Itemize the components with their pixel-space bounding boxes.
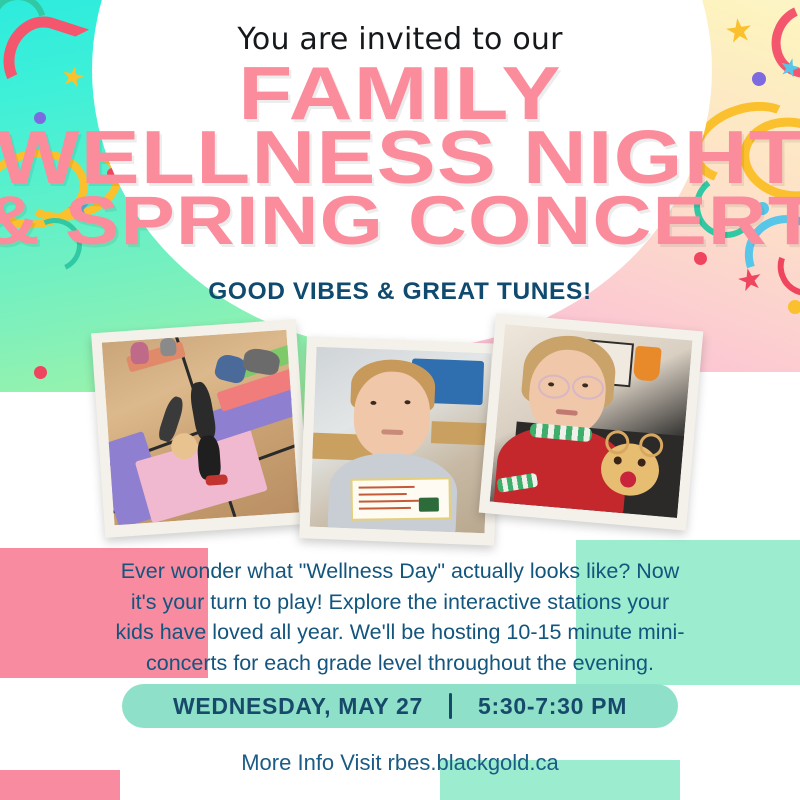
body-paragraph: Ever wonder what "Wellness Day" actually… — [110, 556, 690, 678]
page-title: FAMILY WELLNESS NIGHT & SPRING CONCERT — [0, 63, 800, 248]
subtitle-tagline: GOOD VIBES & GREAT TUNES! — [0, 278, 800, 306]
photo-girl-reindeer-snack — [479, 313, 704, 530]
poster-canvas: You are invited to our FAMILY WELLNESS N… — [0, 0, 800, 800]
title-line-1: FAMILY — [0, 63, 800, 123]
boy-face — [352, 370, 431, 459]
photo-yoga-class — [91, 319, 310, 538]
title-line-3: & SPRING CONCERT — [0, 193, 800, 248]
date-time-banner: WEDNESDAY, MAY 27 5:30-7:30 PM — [122, 684, 678, 728]
photo-yoga-image — [102, 330, 299, 525]
event-time: 5:30-7:30 PM — [478, 693, 627, 720]
headline-block: You are invited to our FAMILY WELLNESS N… — [0, 0, 800, 306]
photo-boy-image — [310, 347, 492, 534]
title-line-2: WELLNESS NIGHT — [0, 127, 800, 187]
photo-girl-image — [490, 324, 693, 518]
photo-strip — [0, 318, 800, 548]
banner-divider — [449, 693, 452, 719]
affirmation-card — [350, 477, 451, 520]
photo-boy-affirmation-card — [299, 336, 502, 545]
more-info-footer: More Info Visit rbes.blackgold.ca — [0, 750, 800, 776]
event-date: WEDNESDAY, MAY 27 — [173, 693, 423, 720]
